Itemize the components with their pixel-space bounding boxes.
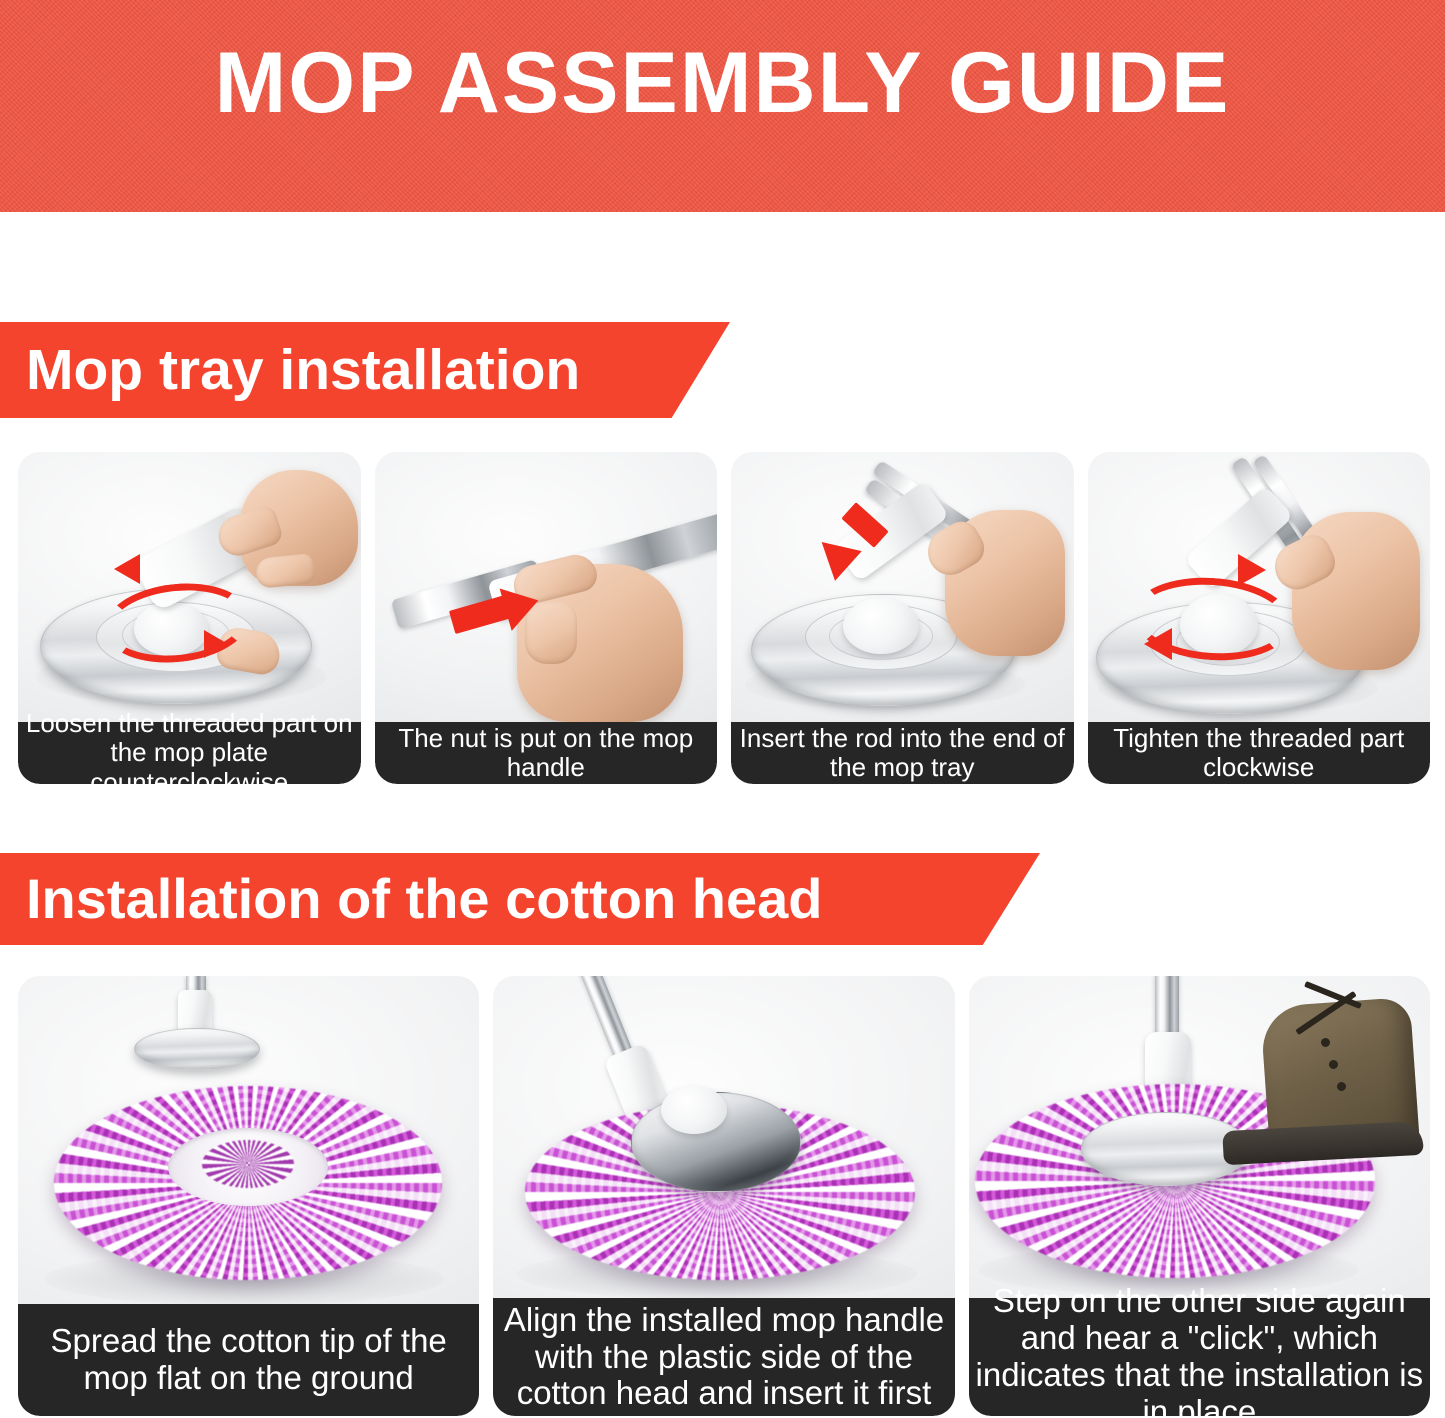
- step-panel-6: Align the installed mop handle with the …: [493, 976, 954, 1416]
- step-panel-2: The nut is put on the mop handle: [375, 452, 718, 784]
- page-title: MOP ASSEMBLY GUIDE: [0, 40, 1445, 126]
- step-caption-5: Spread the cotton tip of the mop flat on…: [18, 1304, 479, 1416]
- section-label: Installation of the cotton head: [26, 871, 822, 927]
- arrow-head-left: [114, 554, 140, 584]
- step-caption-2: The nut is put on the mop handle: [375, 722, 718, 784]
- step-panel-7: Step on the other side again and hear a …: [969, 976, 1430, 1416]
- step-caption-3: Insert the rod into the end of the mop t…: [731, 722, 1074, 784]
- step-caption-7: Step on the other side again and hear a …: [969, 1298, 1430, 1416]
- arrow-head-left: [1144, 628, 1172, 660]
- step-panel-3: Insert the rod into the end of the mop t…: [731, 452, 1074, 784]
- arrow-head-right: [204, 630, 228, 658]
- step-panel-row-cotton-head: Spread the cotton tip of the mop flat on…: [18, 976, 1430, 1416]
- step-panel-5: Spread the cotton tip of the mop flat on…: [18, 976, 479, 1416]
- step-caption-6: Align the installed mop handle with the …: [493, 1298, 954, 1416]
- step-panel-1: Loosen the threaded part on the mop plat…: [18, 452, 361, 784]
- section-header-mop-tray-installation: Mop tray installation: [0, 322, 730, 418]
- step-panel-4: Tighten the threaded part clockwise: [1088, 452, 1431, 784]
- step-panel-row-tray: Loosen the threaded part on the mop plat…: [18, 452, 1430, 784]
- arrow-head-right: [1238, 554, 1266, 586]
- section-label: Mop tray installation: [26, 342, 580, 399]
- section-header-cotton-head-installation: Installation of the cotton head: [0, 853, 1040, 945]
- step-caption-4: Tighten the threaded part clockwise: [1088, 722, 1431, 784]
- step-caption-1: Loosen the threaded part on the mop plat…: [18, 722, 361, 784]
